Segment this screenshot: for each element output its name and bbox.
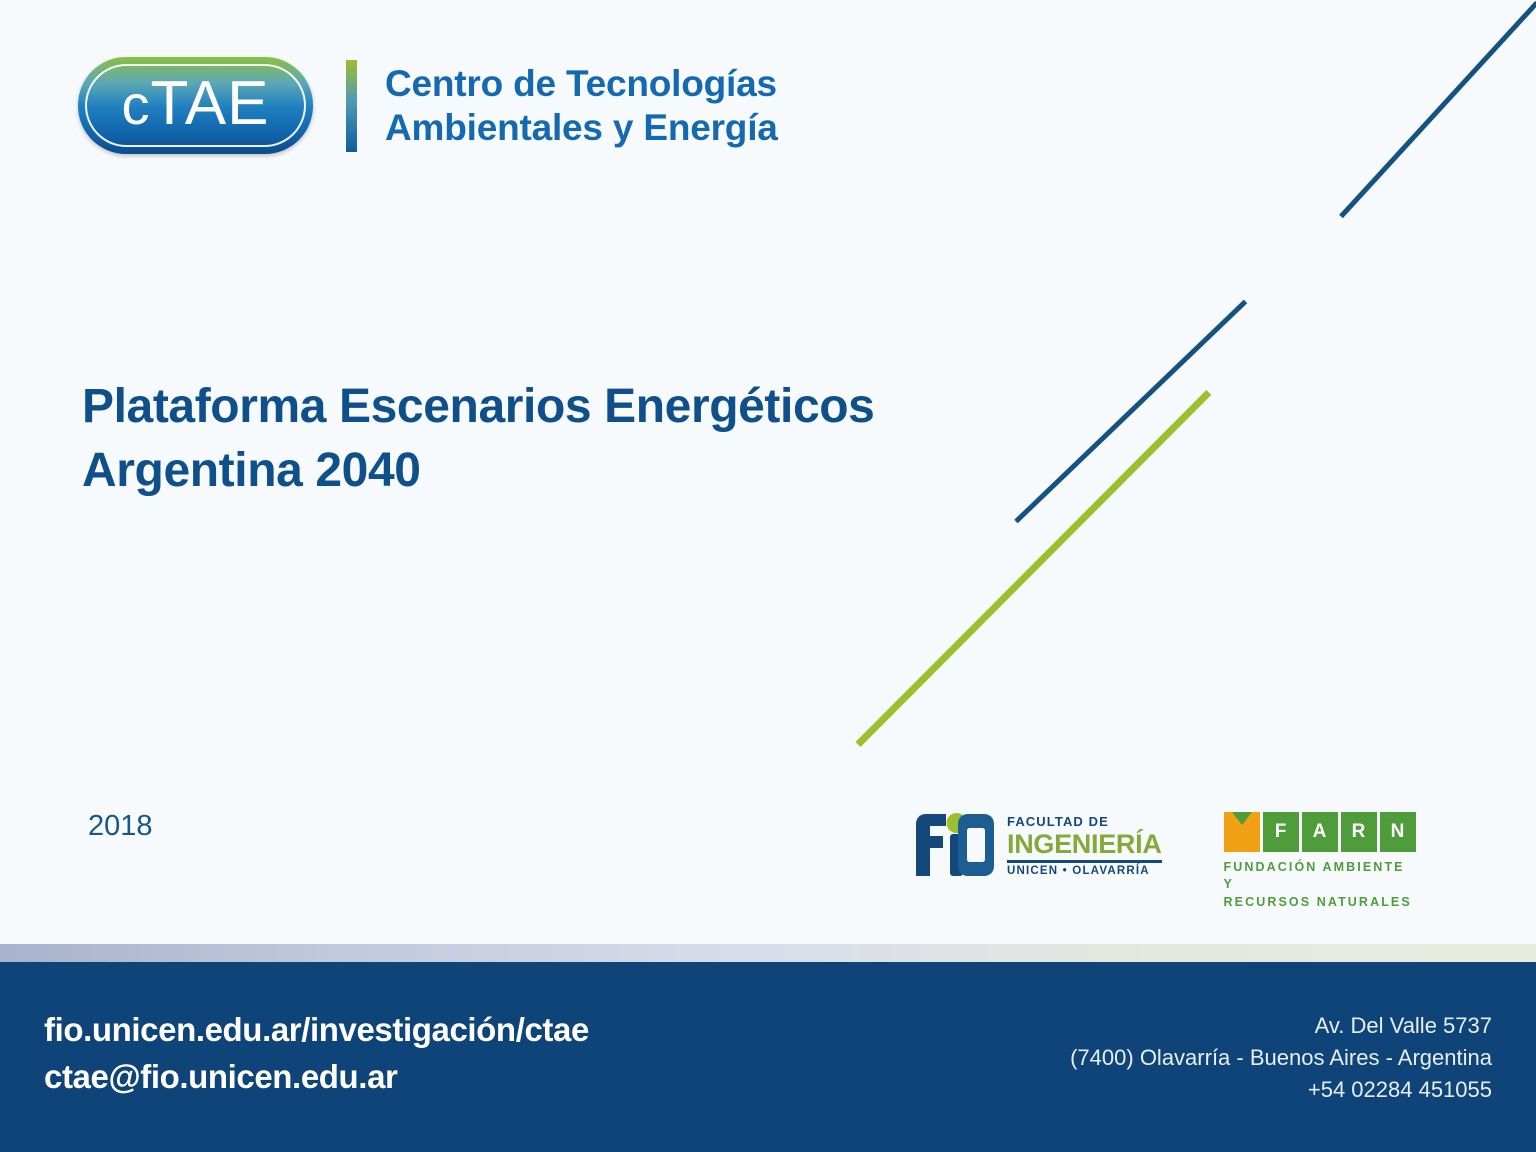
footer-address: Av. Del Valle 5737 (7400) Olavarría - Bu… [1070, 1010, 1492, 1106]
institution-name: Centro de Tecnologías Ambientales y Ener… [385, 62, 778, 149]
publication-year: 2018 [88, 810, 153, 843]
footer-address-line2: (7400) Olavarría - Buenos Aires - Argent… [1070, 1042, 1492, 1074]
fio-line-faculty: FACULTAD DE [1007, 815, 1162, 829]
farn-block-r: R [1341, 812, 1377, 852]
footer-website-link[interactable]: fio.unicen.edu.ar/investigación/ctae [44, 1006, 589, 1053]
farn-block-mark [1224, 812, 1260, 852]
ctae-logo-label: cTAE [122, 73, 270, 139]
farn-block-f: F [1263, 812, 1299, 852]
footer-phone: +54 02284 451055 [1070, 1074, 1492, 1106]
green-diagonal-line [856, 390, 1212, 747]
footer-transition-band [0, 944, 1536, 962]
farn-caption: FUNDACIÓN AMBIENTE Y RECURSOS NATURALES [1224, 859, 1420, 911]
brand-header: cTAE Centro de Tecnologías Ambientales y… [78, 57, 778, 154]
fio-line-engineering: INGENIERÍA [1007, 830, 1162, 858]
fio-line-campus: UNICEN • OLAVARRÍA [1007, 865, 1162, 878]
ctae-logo: cTAE [78, 57, 313, 154]
farn-block-n: N [1380, 812, 1416, 852]
footer-bar: fio.unicen.edu.ar/investigación/ctae cta… [0, 962, 1536, 1152]
farn-letter-blocks: F A R N [1224, 812, 1420, 852]
footer-address-line1: Av. Del Valle 5737 [1070, 1010, 1492, 1042]
blue-diagonal-line-middle [1014, 300, 1247, 524]
fio-monogram-icon [912, 812, 996, 878]
fio-wordmark: FACULTAD DE INGENIERÍA UNICEN • OLAVARRÍ… [1007, 812, 1162, 877]
header-divider [346, 60, 357, 152]
fio-divider-rule [1007, 860, 1162, 863]
footer-contact-links: fio.unicen.edu.ar/investigación/ctae cta… [44, 1006, 589, 1100]
page-title: Plataforma Escenarios Energéticos Argent… [82, 375, 874, 502]
partner-logos: FACULTAD DE INGENIERÍA UNICEN • OLAVARRÍ… [912, 812, 1420, 911]
footer-email-link[interactable]: ctae@fio.unicen.edu.ar [44, 1053, 589, 1100]
slide-canvas: cTAE Centro de Tecnologías Ambientales y… [0, 0, 1536, 1152]
blue-diagonal-line-top [1339, 1, 1536, 218]
farn-block-a: A [1302, 812, 1338, 852]
farn-logo: F A R N FUNDACIÓN AMBIENTE Y RECURSOS NA… [1224, 812, 1420, 911]
fio-logo: FACULTAD DE INGENIERÍA UNICEN • OLAVARRÍ… [912, 812, 1162, 878]
